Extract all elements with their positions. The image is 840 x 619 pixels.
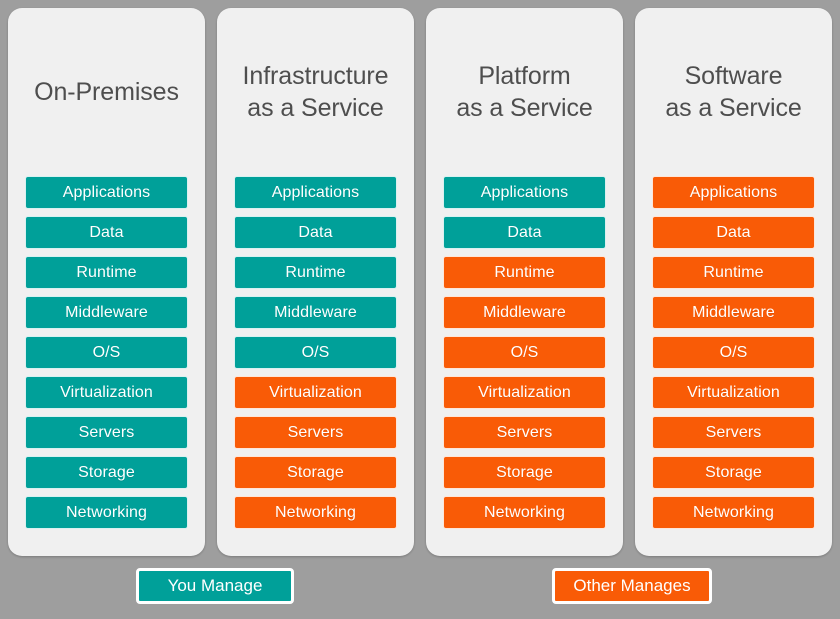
column-title-line: On-Premises	[34, 76, 179, 108]
stack-row-servers: Servers	[652, 416, 815, 449]
column-platform-as-a-service: Platformas a ServiceApplicationsDataRunt…	[426, 8, 623, 556]
stack-row-data: Data	[443, 216, 606, 249]
column-on-premises: On-PremisesApplicationsDataRuntimeMiddle…	[8, 8, 205, 556]
column-title-line: as a Service	[456, 92, 592, 124]
stack-row-applications: Applications	[652, 176, 815, 209]
stack-row-applications: Applications	[25, 176, 188, 209]
legend-you-manage: You Manage	[136, 568, 294, 604]
stack-row-o-s: O/S	[25, 336, 188, 369]
stack-row-middleware: Middleware	[25, 296, 188, 329]
cloud-responsibility-diagram: On-PremisesApplicationsDataRuntimeMiddle…	[0, 0, 840, 619]
column-software-as-a-service: Softwareas a ServiceApplicationsDataRunt…	[635, 8, 832, 556]
stack-row-o-s: O/S	[652, 336, 815, 369]
stack-rows: ApplicationsDataRuntimeMiddlewareO/SVirt…	[18, 176, 195, 529]
stack-row-storage: Storage	[652, 456, 815, 489]
stack-row-storage: Storage	[25, 456, 188, 489]
legend-other-manages: Other Manages	[552, 568, 712, 604]
column-title-line: Software	[665, 60, 801, 92]
stack-row-networking: Networking	[25, 496, 188, 529]
stack-row-storage: Storage	[234, 456, 397, 489]
column-title-on-premises: On-Premises	[18, 8, 195, 176]
column-infrastructure-as-a-service: Infrastructureas a ServiceApplicationsDa…	[217, 8, 414, 556]
stack-row-networking: Networking	[234, 496, 397, 529]
column-title-line: as a Service	[665, 92, 801, 124]
stack-row-virtualization: Virtualization	[652, 376, 815, 409]
stack-row-applications: Applications	[443, 176, 606, 209]
stack-rows: ApplicationsDataRuntimeMiddlewareO/SVirt…	[645, 176, 822, 529]
column-title-infrastructure-as-a-service: Infrastructureas a Service	[227, 8, 404, 176]
stack-row-o-s: O/S	[443, 336, 606, 369]
stack-rows: ApplicationsDataRuntimeMiddlewareO/SVirt…	[227, 176, 404, 529]
stack-row-servers: Servers	[234, 416, 397, 449]
stack-rows: ApplicationsDataRuntimeMiddlewareO/SVirt…	[436, 176, 613, 529]
column-title-platform-as-a-service: Platformas a Service	[436, 8, 613, 176]
stack-row-networking: Networking	[652, 496, 815, 529]
stack-row-virtualization: Virtualization	[25, 376, 188, 409]
stack-row-runtime: Runtime	[234, 256, 397, 289]
column-title-line: Platform	[456, 60, 592, 92]
stack-row-data: Data	[234, 216, 397, 249]
column-title-software-as-a-service: Softwareas a Service	[645, 8, 822, 176]
stack-row-virtualization: Virtualization	[234, 376, 397, 409]
stack-row-storage: Storage	[443, 456, 606, 489]
stack-row-networking: Networking	[443, 496, 606, 529]
stack-row-applications: Applications	[234, 176, 397, 209]
stack-row-data: Data	[25, 216, 188, 249]
stack-row-runtime: Runtime	[443, 256, 606, 289]
stack-row-runtime: Runtime	[25, 256, 188, 289]
stack-row-servers: Servers	[443, 416, 606, 449]
stack-row-o-s: O/S	[234, 336, 397, 369]
stack-row-runtime: Runtime	[652, 256, 815, 289]
column-title-line: as a Service	[243, 92, 389, 124]
stack-row-servers: Servers	[25, 416, 188, 449]
column-title-line: Infrastructure	[243, 60, 389, 92]
service-model-columns: On-PremisesApplicationsDataRuntimeMiddle…	[8, 8, 832, 556]
stack-row-virtualization: Virtualization	[443, 376, 606, 409]
stack-row-middleware: Middleware	[652, 296, 815, 329]
legend: You Manage Other Manages	[0, 568, 840, 614]
stack-row-middleware: Middleware	[443, 296, 606, 329]
stack-row-middleware: Middleware	[234, 296, 397, 329]
stack-row-data: Data	[652, 216, 815, 249]
